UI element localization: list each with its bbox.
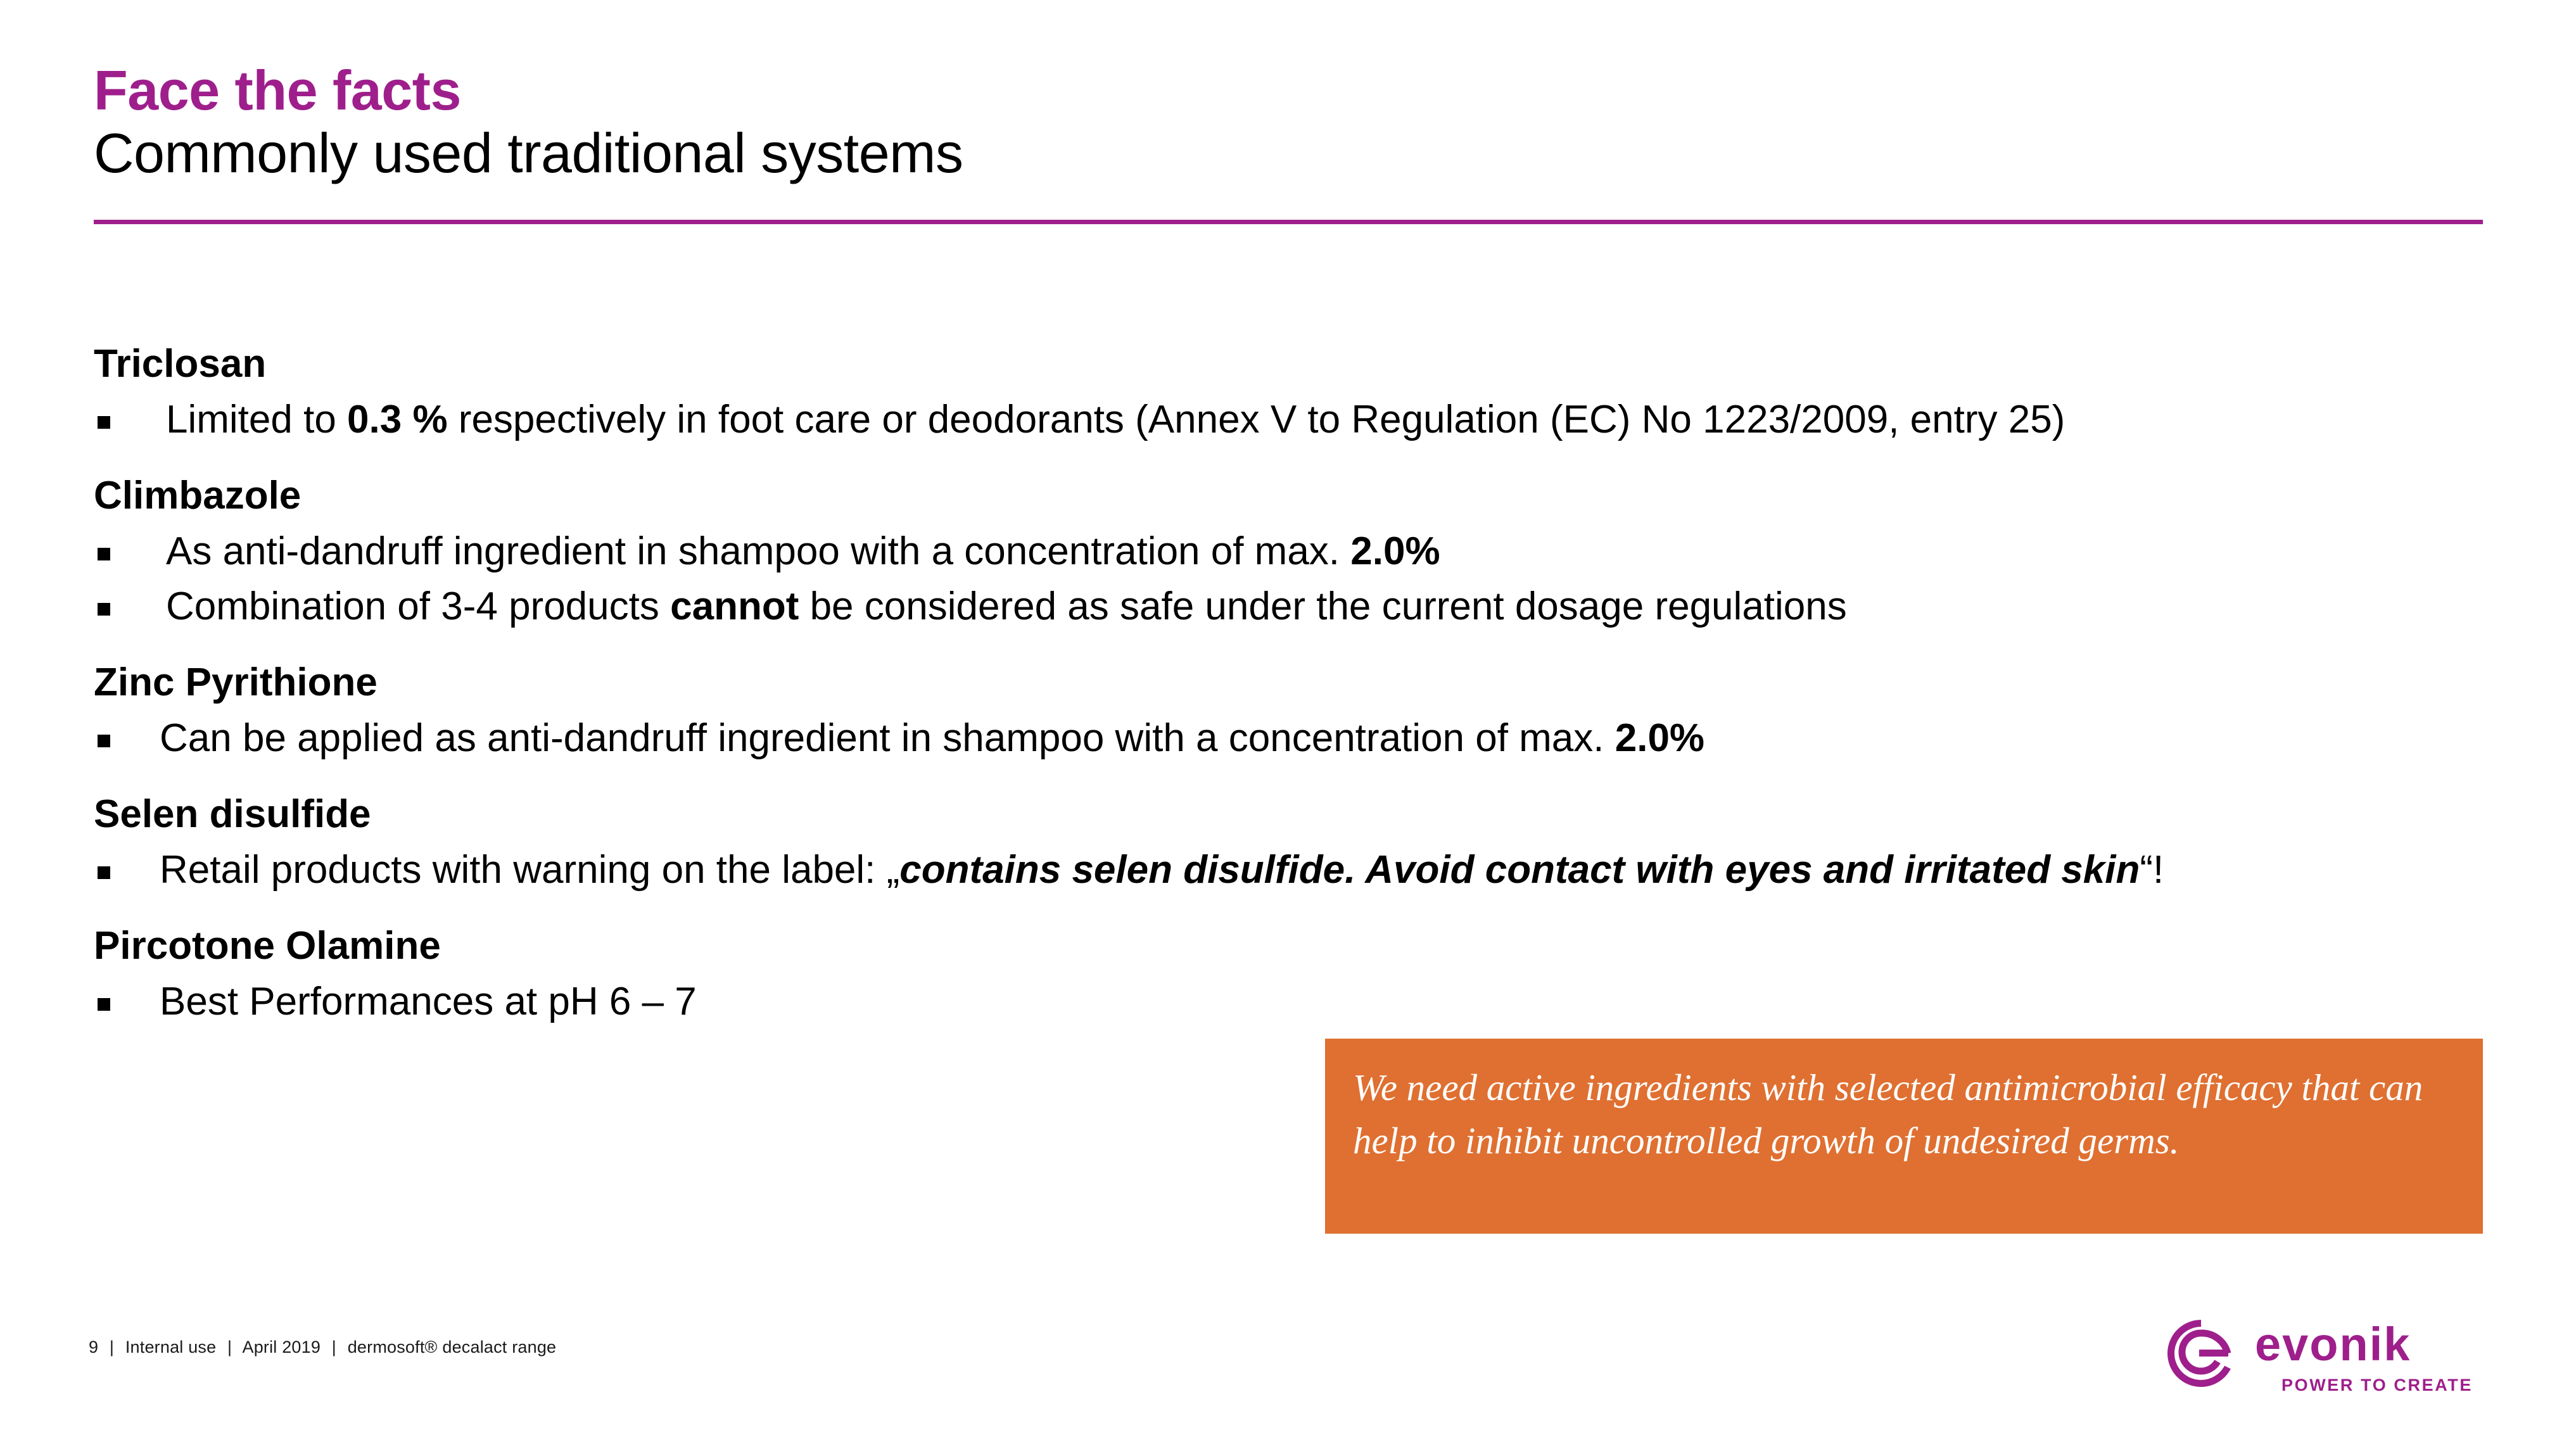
bullet-text: Retail products with warning on the labe… (160, 848, 2164, 892)
bullet-square-icon (98, 998, 110, 1011)
ingredient-group: Selen disulfideRetail products with warn… (94, 792, 2494, 896)
bullet-text-run: Limited to (166, 398, 347, 441)
bullet-text: Best Performances at pH 6 – 7 (160, 980, 697, 1023)
ingredient-group: Zinc PyrithioneCan be applied as anti-da… (94, 661, 2494, 764)
bullet-text-run: cannot (670, 585, 799, 628)
callout-text: We need active ingredients with selected… (1353, 1061, 2455, 1168)
ingredient-group: Pircotone OlamineBest Performances at pH… (94, 924, 2494, 1028)
evonik-tagline: POWER TO CREATE (2281, 1377, 2473, 1394)
ingredient-heading: Pircotone Olamine (94, 924, 2494, 968)
bullet-item: Can be applied as anti-dandruff ingredie… (94, 713, 2494, 764)
title-divider-rule (94, 220, 2483, 224)
ingredient-heading: Zinc Pyrithione (94, 661, 2494, 704)
slide-title-block: Face the facts Commonly used traditional… (94, 61, 2483, 185)
bullet-text-run: Retail products with warning on the labe… (160, 848, 899, 892)
callout-box: We need active ingredients with selected… (1325, 1039, 2483, 1234)
page-title: Face the facts (94, 61, 2483, 120)
ingredient-group: TriclosanLimited to 0.3 % respectively i… (94, 342, 2494, 446)
bullet-item: Combination of 3-4 products cannot be co… (94, 581, 2494, 633)
bullet-text-run: As anti-dandruff ingredient in shampoo w… (166, 529, 1350, 573)
bullet-text: Combination of 3-4 products cannot be co… (166, 585, 1847, 628)
evonik-wordmark: evonik (2255, 1321, 2411, 1368)
bullet-text: Limited to 0.3 % respectively in foot ca… (166, 398, 2065, 441)
footer-page-number: 9 (89, 1338, 98, 1357)
footer-separator-1: | (103, 1338, 120, 1357)
bullet-square-icon (98, 603, 110, 616)
bullet-text: Can be applied as anti-dandruff ingredie… (160, 716, 1704, 760)
content-body: TriclosanLimited to 0.3 % respectively i… (94, 342, 2494, 1028)
bullet-text-run: “! (2140, 848, 2164, 892)
evonik-logo: evonik POWER TO CREATE (2166, 1316, 2483, 1411)
page-subtitle: Commonly used traditional systems (94, 122, 2483, 185)
footer: 9 | Internal use | April 2019 | dermosof… (89, 1338, 556, 1357)
footer-date: April 2019 (242, 1338, 320, 1357)
bullet-text-run: Best Performances at pH 6 – 7 (160, 980, 697, 1023)
bullet-square-icon (98, 866, 110, 879)
bullet-item: Best Performances at pH 6 – 7 (94, 977, 2494, 1028)
bullet-text-run: be considered as safe under the current … (799, 585, 1846, 628)
bullet-item: As anti-dandruff ingredient in shampoo w… (94, 526, 2494, 578)
bullet-text-run: contains selen disulfide. Avoid contact … (899, 848, 2140, 892)
bullet-item: Limited to 0.3 % respectively in foot ca… (94, 395, 2494, 446)
bullet-text-run: respectively in foot care or deodorants … (448, 398, 2065, 441)
bullet-text: As anti-dandruff ingredient in shampoo w… (166, 529, 1440, 573)
bullet-text-run: Combination of 3-4 products (166, 585, 670, 628)
evonik-spiral-e-icon (2166, 1319, 2236, 1388)
ingredient-group: ClimbazoleAs anti-dandruff ingredient in… (94, 474, 2494, 633)
bullet-text-run: 2.0% (1350, 529, 1440, 573)
ingredient-heading: Climbazole (94, 474, 2494, 517)
footer-confidentiality: Internal use (125, 1338, 217, 1357)
footer-separator-3: | (326, 1338, 343, 1357)
ingredient-heading: Triclosan (94, 342, 2494, 386)
bullet-text-run: Can be applied as anti-dandruff ingredie… (160, 716, 1615, 760)
bullet-text-run: 0.3 % (347, 398, 448, 441)
footer-separator-2: | (221, 1338, 238, 1357)
slide-canvas: Face the facts Commonly used traditional… (0, 0, 2576, 1449)
ingredient-heading: Selen disulfide (94, 792, 2494, 836)
bullet-text-run: 2.0% (1615, 716, 1704, 760)
bullet-square-icon (98, 735, 110, 747)
bullet-item: Retail products with warning on the labe… (94, 845, 2494, 896)
bullet-square-icon (98, 548, 110, 560)
bullet-square-icon (98, 416, 110, 429)
footer-document-name: dermosoft® decalact range (348, 1338, 557, 1357)
